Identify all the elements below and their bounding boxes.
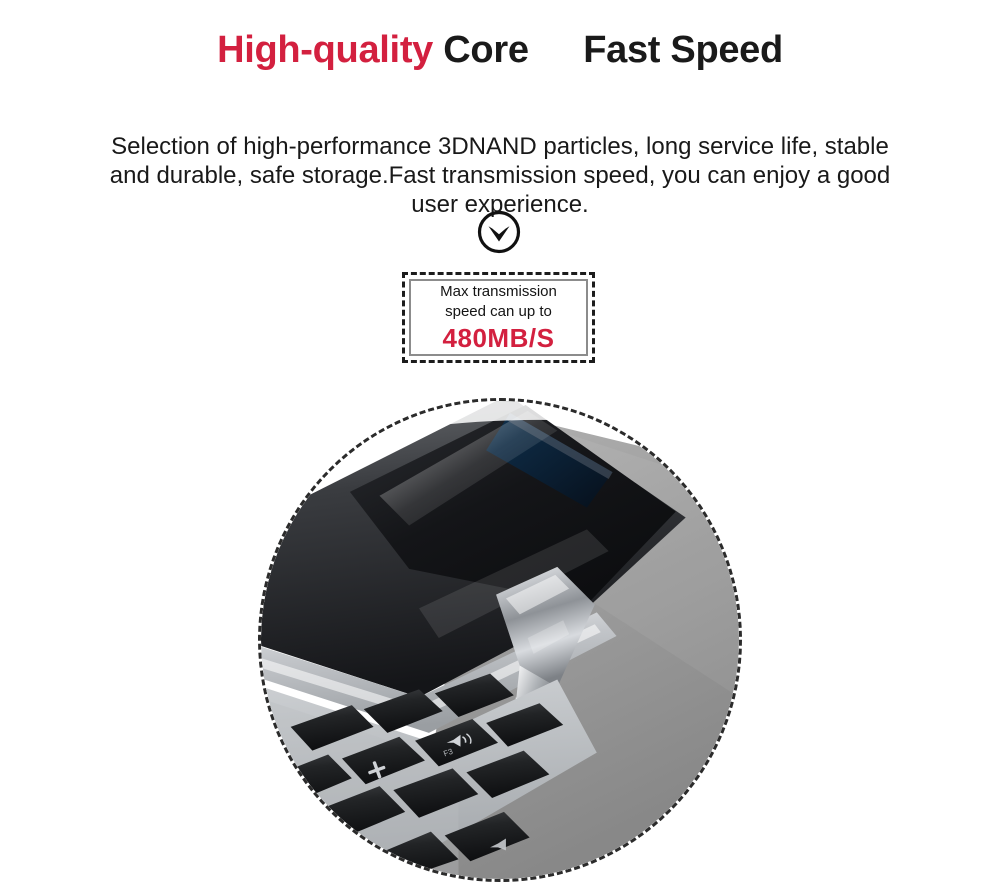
page-title: High-quality Core Fast Speed	[0, 28, 1000, 74]
max-speed-label-line1: Max transmission	[440, 282, 557, 302]
max-speed-callout-inner: Max transmission speed can up to 480MB/S	[409, 279, 588, 356]
product-photo: F3	[261, 401, 739, 879]
page-title-word-fast-speed: Fast Speed	[583, 29, 783, 71]
page-description: Selection of high-performance 3DNAND par…	[100, 132, 900, 219]
chevron-down-circle-icon	[477, 210, 521, 254]
max-speed-value: 480MB/S	[443, 323, 555, 353]
max-speed-label-line2: speed can up to	[445, 302, 552, 322]
max-speed-callout: Max transmission speed can up to 480MB/S	[402, 272, 595, 363]
product-photo-frame: F3	[258, 398, 742, 882]
page-title-word-core: Core	[443, 29, 528, 71]
page-title-highlight: High-quality	[217, 29, 433, 71]
